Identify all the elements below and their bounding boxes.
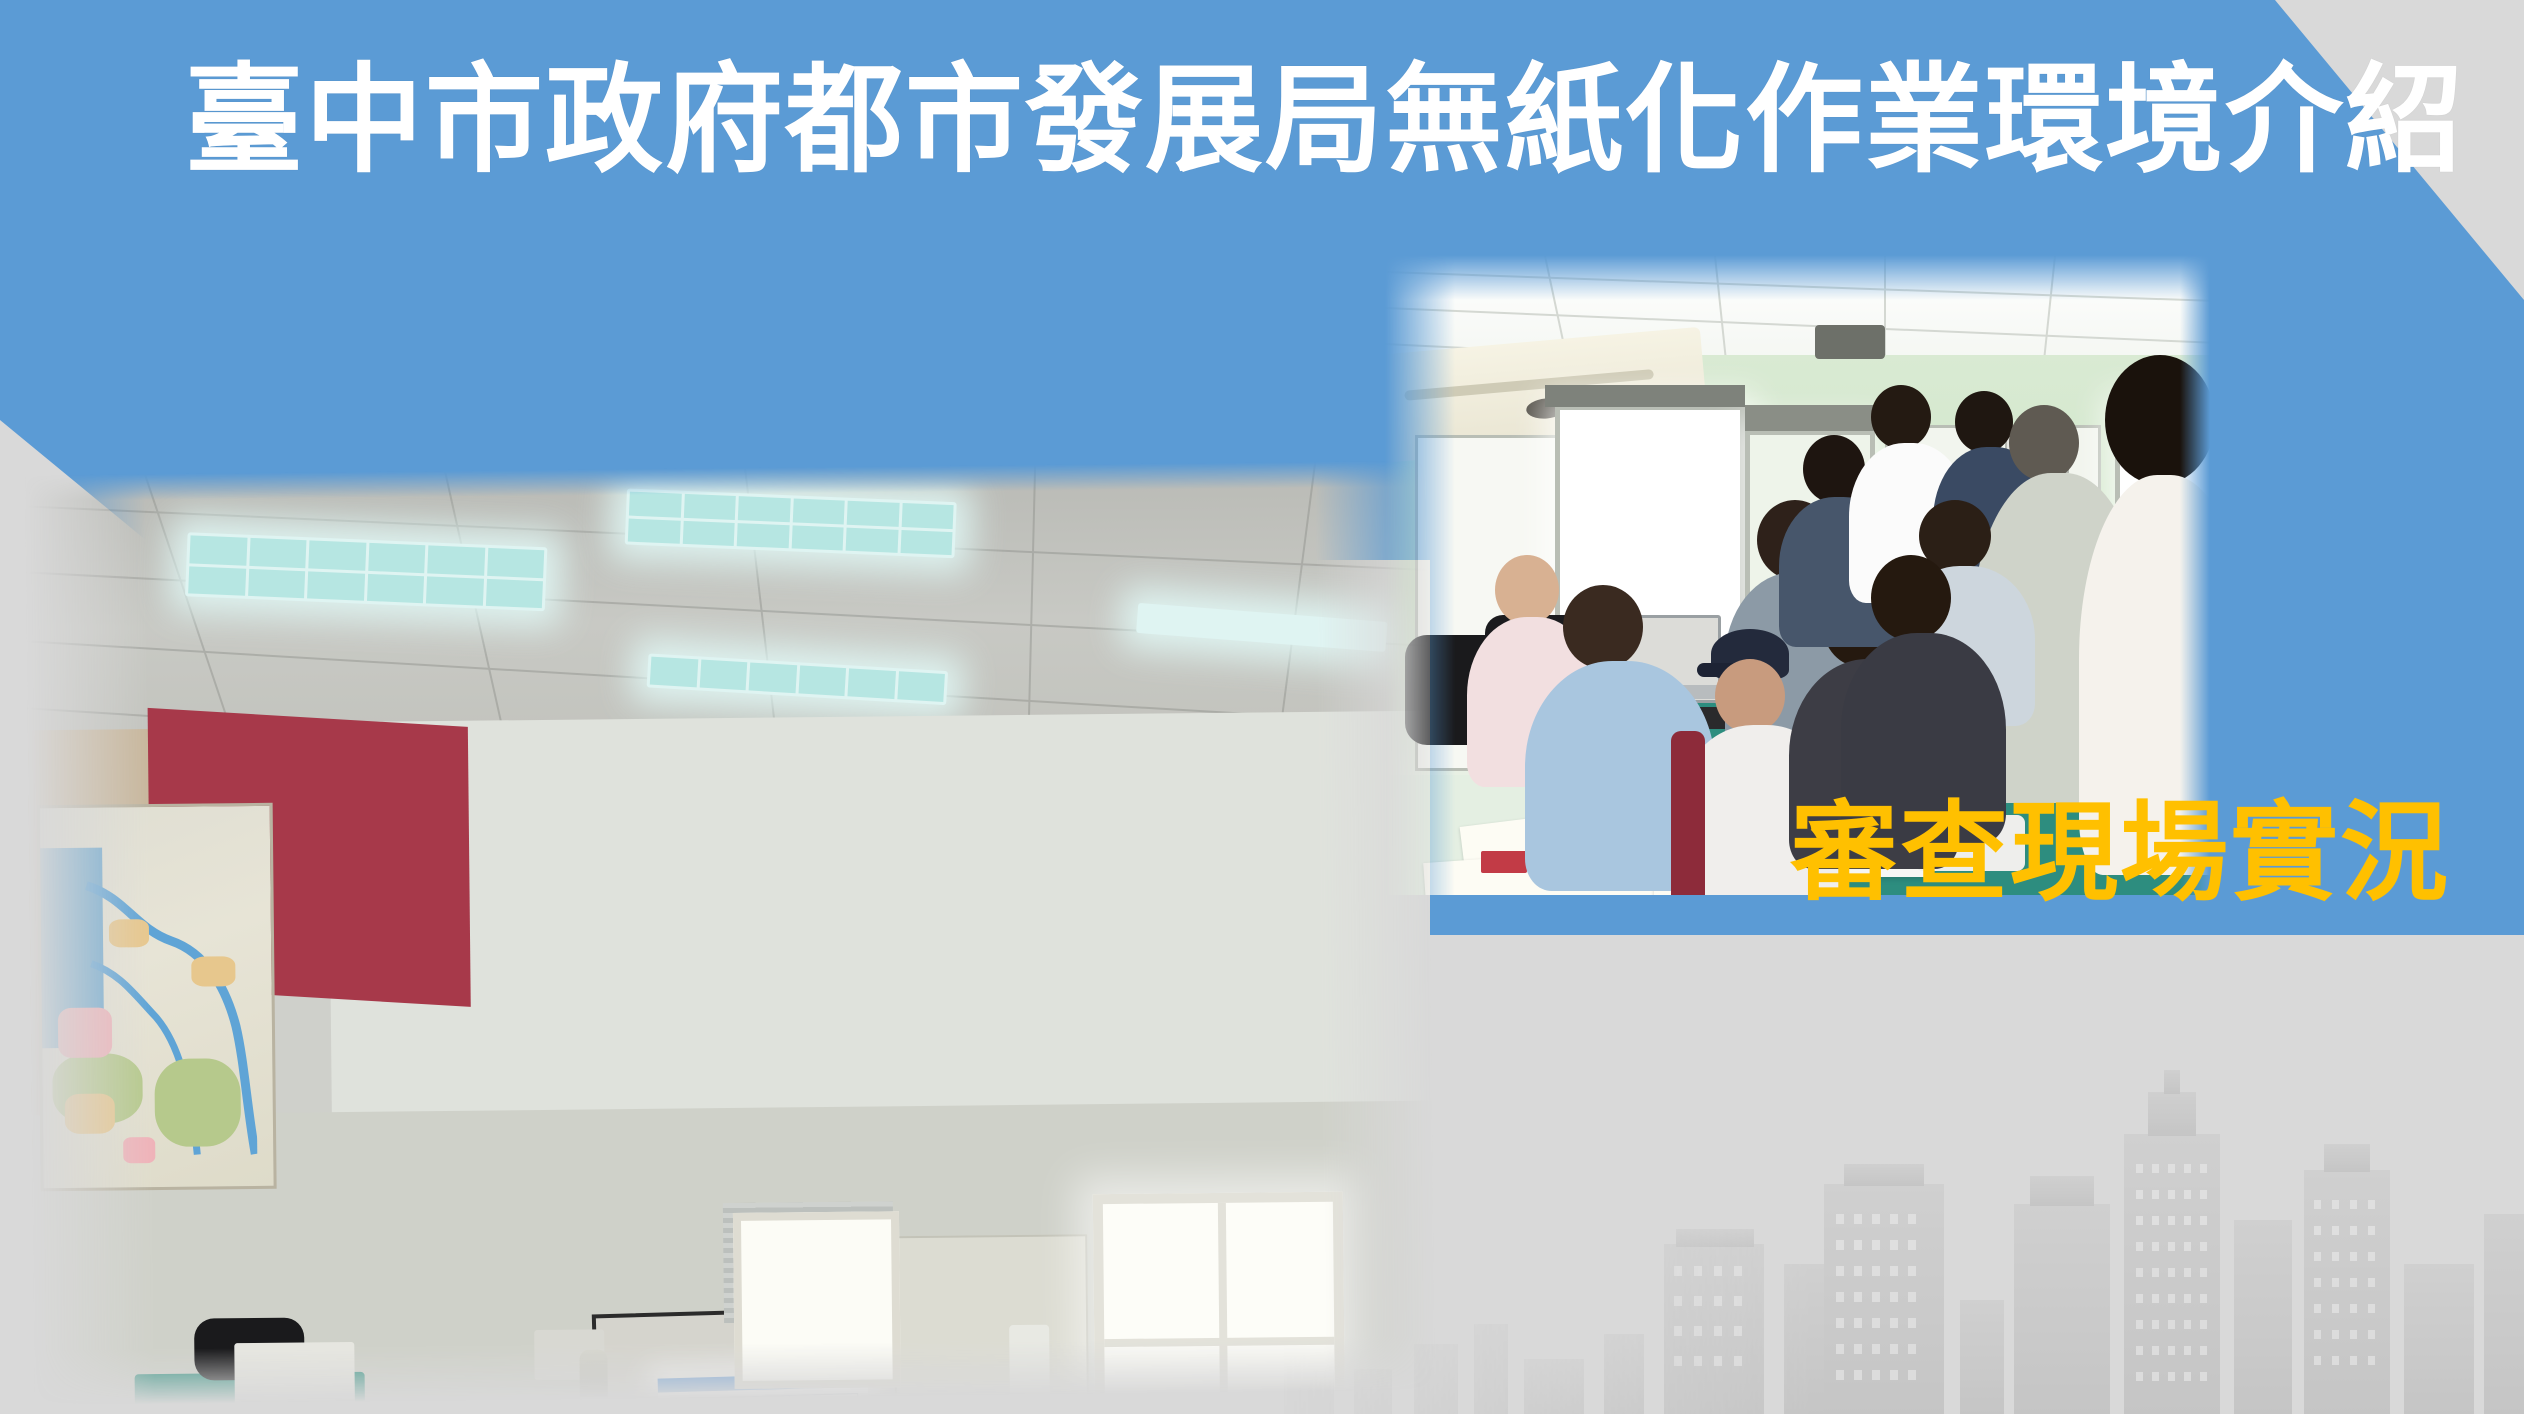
photo-caption: 審查現場實況: [1790, 766, 2450, 922]
presentation-slide: 臺中市政府都市發展局無紙化作業環境介紹 審查現場實況: [0, 0, 2524, 1414]
page-title: 臺中市政府都市發展局無紙化作業環境介紹: [185, 24, 2465, 195]
meeting-room-photo: [25, 461, 1435, 1406]
wall-map: [37, 803, 277, 1191]
